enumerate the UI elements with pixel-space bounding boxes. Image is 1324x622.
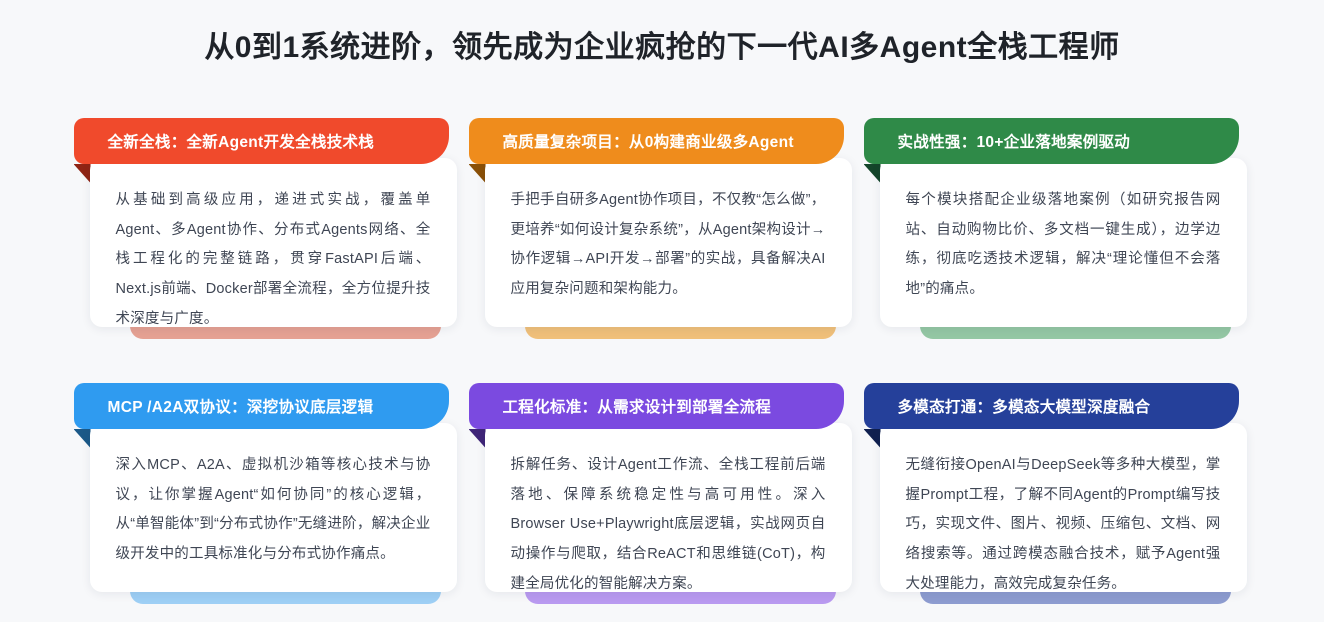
card-header-ribbon: 全新全栈：全新Agent开发全栈技术栈 — [74, 118, 449, 164]
card-header-title: 工程化标准：从需求设计到部署全流程 — [503, 395, 772, 417]
card-description: 无缝衔接OpenAI与DeepSeek等多种大模型，掌握Prompt工程，了解不… — [906, 451, 1221, 600]
page-root: 从0到1系统进阶，领先成为企业疯抢的下一代AI多Agent全栈工程师 从基础到高… — [0, 0, 1324, 622]
card-fold-decoration — [864, 429, 881, 448]
feature-card: 每个模块搭配企业级落地案例（如研究报告网站、自动购物比价、多文档一键生成），边学… — [862, 118, 1257, 383]
card-header-ribbon: 实战性强：10+企业落地案例驱动 — [864, 118, 1239, 164]
card-header-title: 高质量复杂项目：从0构建商业级多Agent — [503, 130, 794, 152]
card-description: 手把手自研多Agent协作项目，不仅教“怎么做”，更培养“如何设计复杂系统”，从… — [511, 186, 826, 305]
card-header-title: 多模态打通：多模态大模型深度融合 — [898, 395, 1151, 417]
card-fold-decoration — [469, 164, 486, 183]
feature-card: 从基础到高级应用，递进式实战，覆盖单Agent、多Agent协作、分布式Agen… — [72, 118, 467, 383]
card-body: 拆解任务、设计Agent工作流、全栈工程前后端落地、保障系统稳定性与高可用性。深… — [485, 423, 852, 592]
feature-card: 手把手自研多Agent协作项目，不仅教“怎么做”，更培养“如何设计复杂系统”，从… — [467, 118, 862, 383]
feature-card: 深入MCP、A2A、虚拟机沙箱等核心技术与协议，让你掌握Agent“如何协同”的… — [72, 383, 467, 622]
card-header-ribbon: 高质量复杂项目：从0构建商业级多Agent — [469, 118, 844, 164]
card-description: 从基础到高级应用，递进式实战，覆盖单Agent、多Agent协作、分布式Agen… — [116, 186, 431, 335]
page-title: 从0到1系统进阶，领先成为企业疯抢的下一代AI多Agent全栈工程师 — [0, 0, 1324, 69]
card-fold-decoration — [864, 164, 881, 183]
card-body: 每个模块搭配企业级落地案例（如研究报告网站、自动购物比价、多文档一键生成），边学… — [880, 158, 1247, 327]
card-header-title: MCP /A2A双协议：深挖协议底层逻辑 — [108, 395, 374, 417]
card-header-ribbon: MCP /A2A双协议：深挖协议底层逻辑 — [74, 383, 449, 429]
card-fold-decoration — [469, 429, 486, 448]
card-fold-decoration — [74, 164, 91, 183]
feature-card: 无缝衔接OpenAI与DeepSeek等多种大模型，掌握Prompt工程，了解不… — [862, 383, 1257, 622]
card-body: 从基础到高级应用，递进式实战，覆盖单Agent、多Agent协作、分布式Agen… — [90, 158, 457, 327]
card-description: 拆解任务、设计Agent工作流、全栈工程前后端落地、保障系统稳定性与高可用性。深… — [511, 451, 826, 600]
card-body: 手把手自研多Agent协作项目，不仅教“怎么做”，更培养“如何设计复杂系统”，从… — [485, 158, 852, 327]
card-fold-decoration — [74, 429, 91, 448]
card-description: 深入MCP、A2A、虚拟机沙箱等核心技术与协议，让你掌握Agent“如何协同”的… — [116, 451, 431, 570]
card-body: 深入MCP、A2A、虚拟机沙箱等核心技术与协议，让你掌握Agent“如何协同”的… — [90, 423, 457, 592]
feature-card-grid: 从基础到高级应用，递进式实战，覆盖单Agent、多Agent协作、分布式Agen… — [0, 118, 1324, 622]
card-header-title: 实战性强：10+企业落地案例驱动 — [898, 130, 1131, 152]
card-body: 无缝衔接OpenAI与DeepSeek等多种大模型，掌握Prompt工程，了解不… — [880, 423, 1247, 592]
card-header-ribbon: 多模态打通：多模态大模型深度融合 — [864, 383, 1239, 429]
feature-card: 拆解任务、设计Agent工作流、全栈工程前后端落地、保障系统稳定性与高可用性。深… — [467, 383, 862, 622]
card-description: 每个模块搭配企业级落地案例（如研究报告网站、自动购物比价、多文档一键生成），边学… — [906, 186, 1221, 305]
card-header-ribbon: 工程化标准：从需求设计到部署全流程 — [469, 383, 844, 429]
card-header-title: 全新全栈：全新Agent开发全栈技术栈 — [108, 130, 375, 152]
